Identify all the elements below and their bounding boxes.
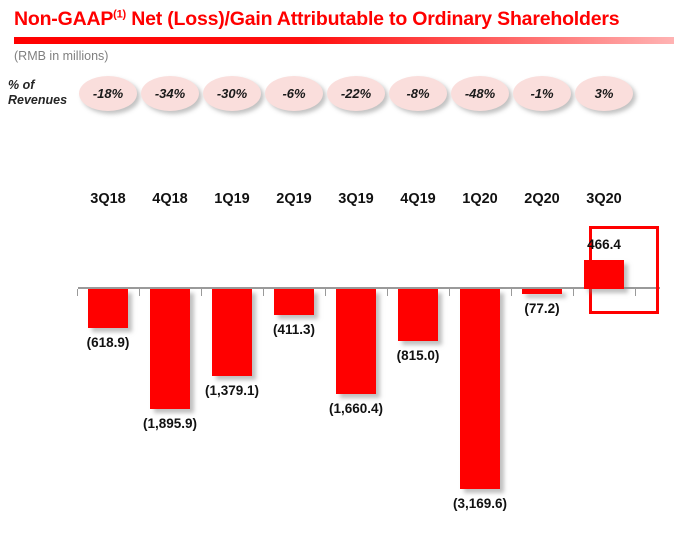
axis-tick [263,289,264,296]
bar-4q19 [398,289,438,341]
bar-2q19 [274,289,314,315]
axis-tick [201,289,202,296]
category-label-2q19: 2Q19 [264,191,324,207]
percent-of-revenues-oval-1q19: -30% [203,76,261,111]
category-label-1q20: 1Q20 [450,191,510,207]
value-label-2q20: (77.2) [482,301,602,316]
bar-3q18 [88,289,128,328]
category-label-2q20: 2Q20 [512,191,572,207]
bar-1q20 [460,289,500,489]
value-label-1q19: (1,379.1) [172,383,292,398]
value-label-3q19: (1,660.4) [296,401,416,416]
percent-of-revenues-oval-2q20: -1% [513,76,571,111]
category-label-4q19: 4Q19 [388,191,448,207]
percent-of-revenues-oval-2q19: -6% [265,76,323,111]
percent-of-revenues-oval-3q18: -18% [79,76,137,111]
bar-3q20 [584,260,624,289]
category-label-3q18: 3Q18 [78,191,138,207]
percent-of-revenues-oval-4q19: -8% [389,76,447,111]
axis-tick [139,289,140,296]
percent-of-revenues-oval-4q18: -34% [141,76,199,111]
bar-2q20 [522,289,562,294]
category-label-3q20: 3Q20 [574,191,634,207]
axis-tick [387,289,388,296]
percent-of-revenues-oval-3q20: 3% [575,76,633,111]
value-label-1q20: (3,169.6) [420,496,540,511]
axis-tick [511,289,512,296]
percent-of-revenues-oval-3q19: -22% [327,76,385,111]
category-label-3q19: 3Q19 [326,191,386,207]
value-label-4q18: (1,895.9) [110,416,230,431]
value-label-3q20: 466.4 [544,237,664,252]
axis-tick [449,289,450,296]
axis-tick [573,289,574,296]
axis-tick [325,289,326,296]
percent-of-revenues-oval-1q20: -48% [451,76,509,111]
category-label-4q18: 4Q18 [140,191,200,207]
category-label-1q19: 1Q19 [202,191,262,207]
axis-tick [77,289,78,296]
axis-tick [635,289,636,296]
bar-3q19 [336,289,376,394]
